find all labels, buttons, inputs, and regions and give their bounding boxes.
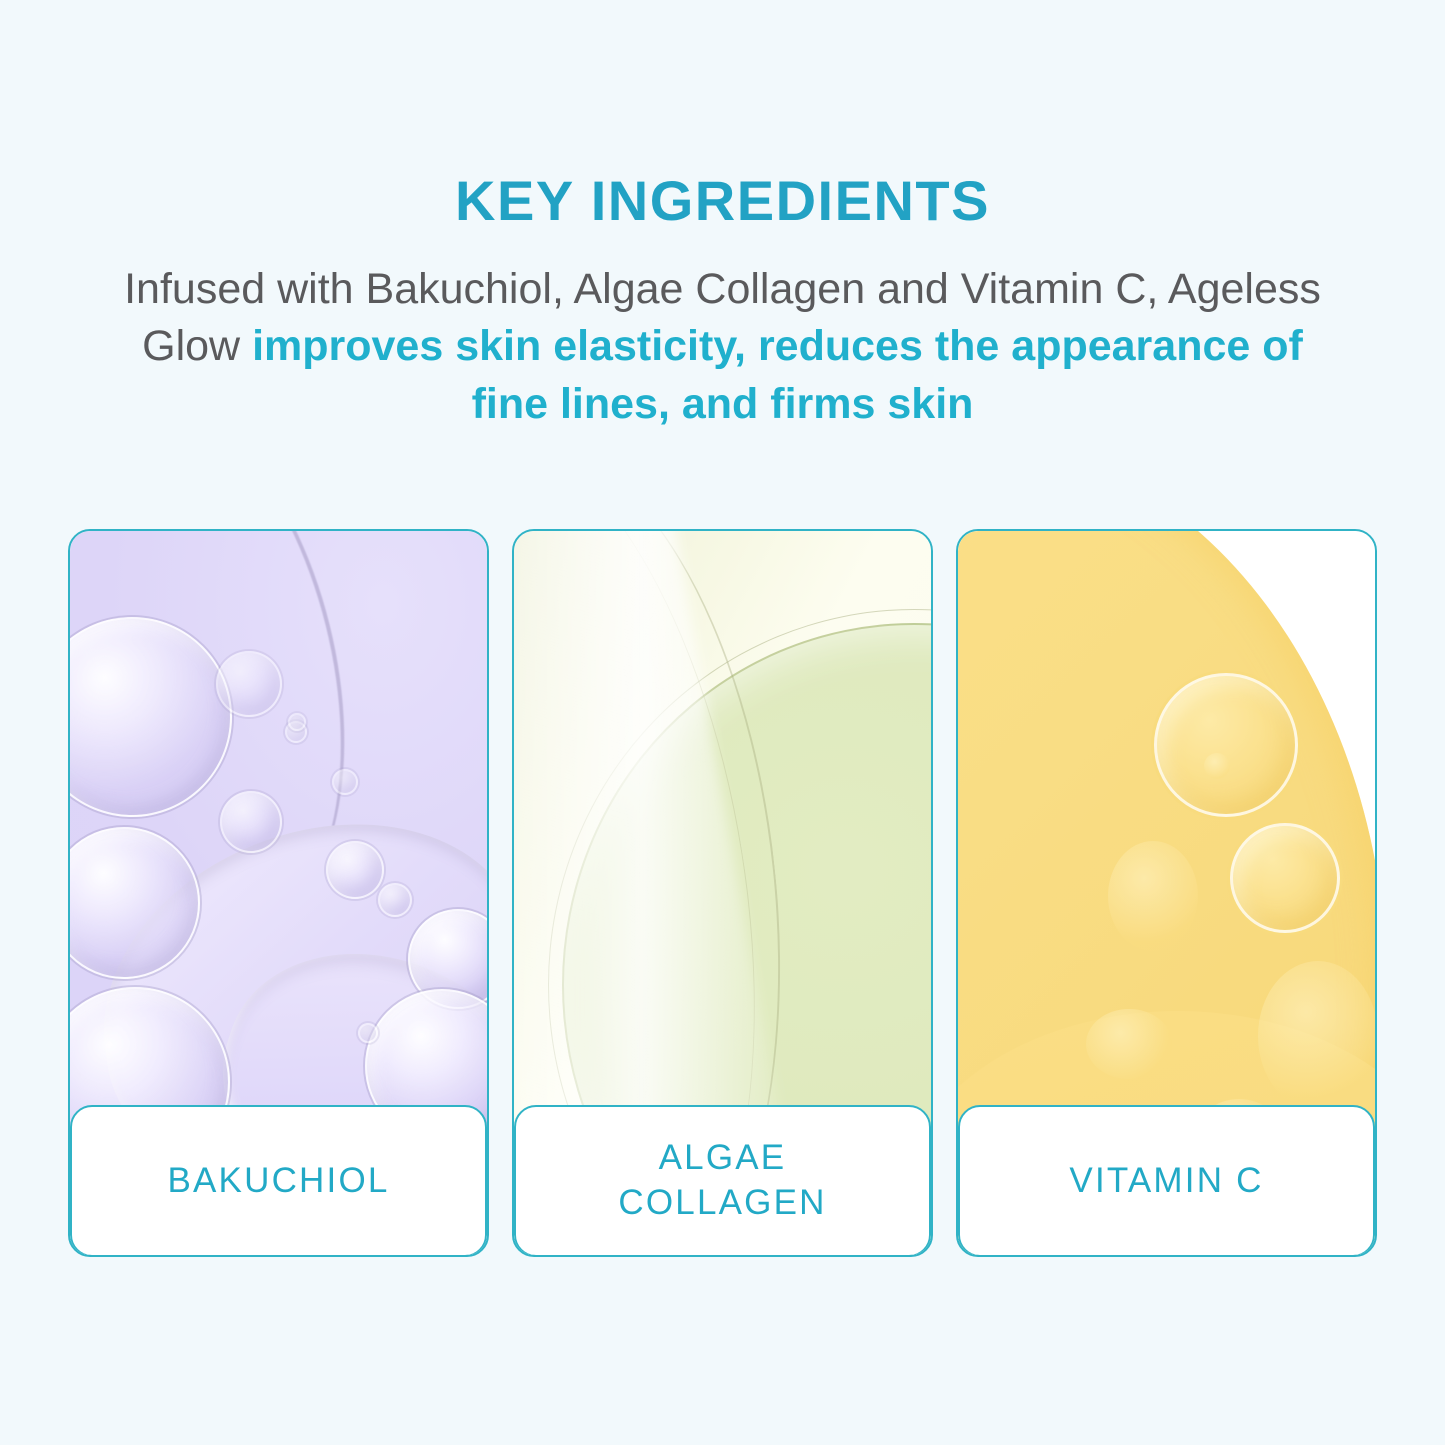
ingredient-card-algae-collagen[interactable]: ALGAE COLLAGEN: [512, 529, 933, 1257]
bubble-dot-d: [378, 883, 412, 917]
ingredient-card-vitamin-c[interactable]: VITAMIN C: [956, 529, 1377, 1257]
card-label-text: VITAMIN C: [1069, 1159, 1263, 1204]
bubble-tiny-upper: [216, 651, 282, 717]
card-label-panel-vitamin-c: VITAMIN C: [958, 1105, 1375, 1257]
bubble-dot-c: [288, 713, 306, 731]
card-label-panel-algae-collagen: ALGAE COLLAGEN: [514, 1105, 931, 1257]
bubble-dot-e: [358, 1023, 378, 1043]
card-label-text: BAKUCHIOL: [167, 1159, 389, 1204]
subtitle: Infused with Bakuchiol, Algae Collagen a…: [108, 231, 1338, 434]
oil-inner-droplet-b: [1086, 1009, 1172, 1079]
ingredient-card-bakuchiol[interactable]: BAKUCHIOL: [68, 529, 489, 1257]
ingredient-cards-row: BAKUCHIOL ALGAE COLLAGEN VITAM: [68, 529, 1377, 1257]
subtitle-line-2-accent: improves skin elasticity, reduces the: [252, 322, 999, 370]
oil-droplet-large: [1154, 673, 1298, 817]
oil-droplet-small: [1230, 823, 1340, 933]
oil-inner-droplet-c: [1258, 961, 1375, 1111]
bubble-small-mid-left: [220, 791, 282, 853]
page-title: KEY INGREDIENTS: [0, 0, 1445, 231]
card-label-text: ALGAE COLLAGEN: [618, 1136, 826, 1226]
oil-inner-droplet-a: [1108, 841, 1198, 951]
card-label-panel-bakuchiol: BAKUCHIOL: [70, 1105, 487, 1257]
oil-inner-droplet-e: [1204, 753, 1230, 779]
header: KEY INGREDIENTS Infused with Bakuchiol, …: [0, 0, 1445, 434]
subtitle-line-1: Infused with Bakuchiol, Algae Collagen a…: [124, 265, 1158, 313]
bubble-dot-b: [332, 769, 358, 795]
bubble-small-mid: [326, 841, 384, 899]
